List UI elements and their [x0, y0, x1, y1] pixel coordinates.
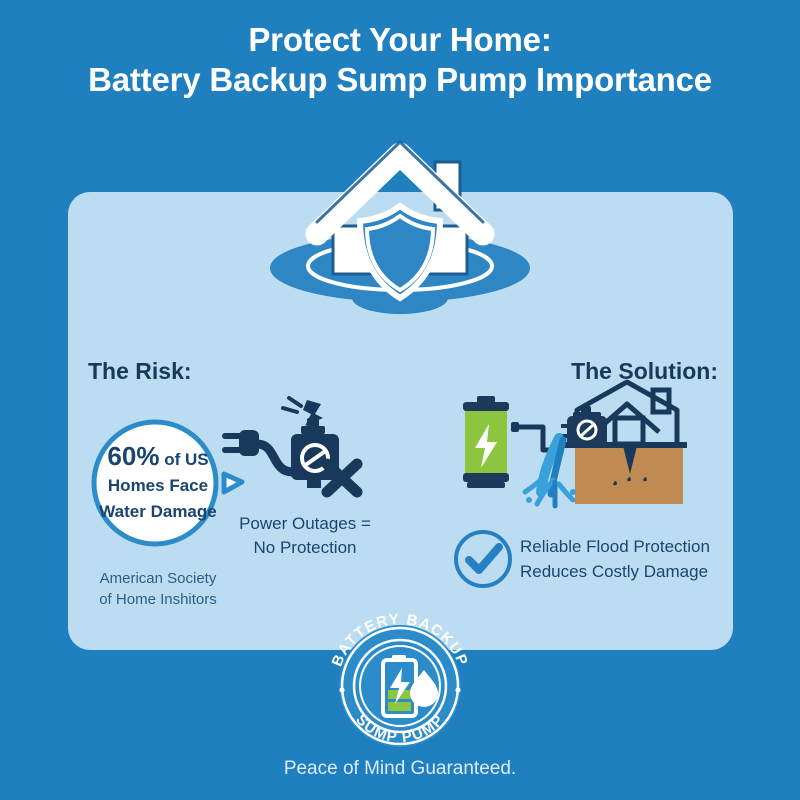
solution-illustration	[455, 388, 725, 518]
stat-source: American Society of Home Inshitors	[58, 568, 258, 610]
check-badge	[452, 528, 514, 590]
battery-backup-sump-pump-seal-icon: BATTERY BACKUP SUMP PUMP	[320, 624, 480, 749]
title-line-1: Protect Your Home:	[0, 20, 800, 60]
brand-badge: BATTERY BACKUP SUMP PUMP	[320, 624, 480, 749]
title-line-2: Battery Backup Sump Pump Importance	[0, 60, 800, 100]
page-title: Protect Your Home: Battery Backup Sump P…	[0, 20, 800, 100]
risk-caption-line-2: No Protection	[254, 538, 357, 557]
risk-caption: Power Outages = No Protection	[225, 512, 385, 560]
stat-percent-suffix: of US	[159, 450, 208, 469]
source-line-1: American Society	[100, 570, 217, 587]
stat-line-3: Water Damage	[99, 502, 216, 521]
stat-line-2: Homes Face	[108, 476, 208, 495]
unplugged-pump-icon	[215, 392, 365, 507]
solution-caption-line-2: Reduces Costly Damage	[520, 562, 708, 581]
solution-caption: Reliable Flood Protection Reduces Costly…	[520, 534, 730, 584]
house-shield-icon	[255, 140, 545, 340]
risk-heading: The Risk:	[88, 358, 192, 385]
footer-tagline: Peace of Mind Guaranteed.	[0, 758, 800, 780]
risk-illustration	[215, 392, 365, 507]
solution-heading: The Solution:	[418, 358, 718, 385]
stat-text: 60% of US Homes Face Water Damage	[88, 443, 228, 525]
stat-percent: 60%	[107, 441, 159, 471]
infographic-canvas: Protect Your Home: Battery Backup Sump P…	[0, 0, 800, 800]
hero-illustration	[255, 140, 545, 340]
source-line-2: of Home Inshitors	[99, 591, 217, 608]
battery-pump-house-icon	[455, 388, 725, 518]
check-circle-icon	[452, 528, 514, 590]
solution-caption-line-1: Reliable Flood Protection	[520, 537, 710, 556]
risk-caption-line-1: Power Outages =	[239, 514, 371, 533]
